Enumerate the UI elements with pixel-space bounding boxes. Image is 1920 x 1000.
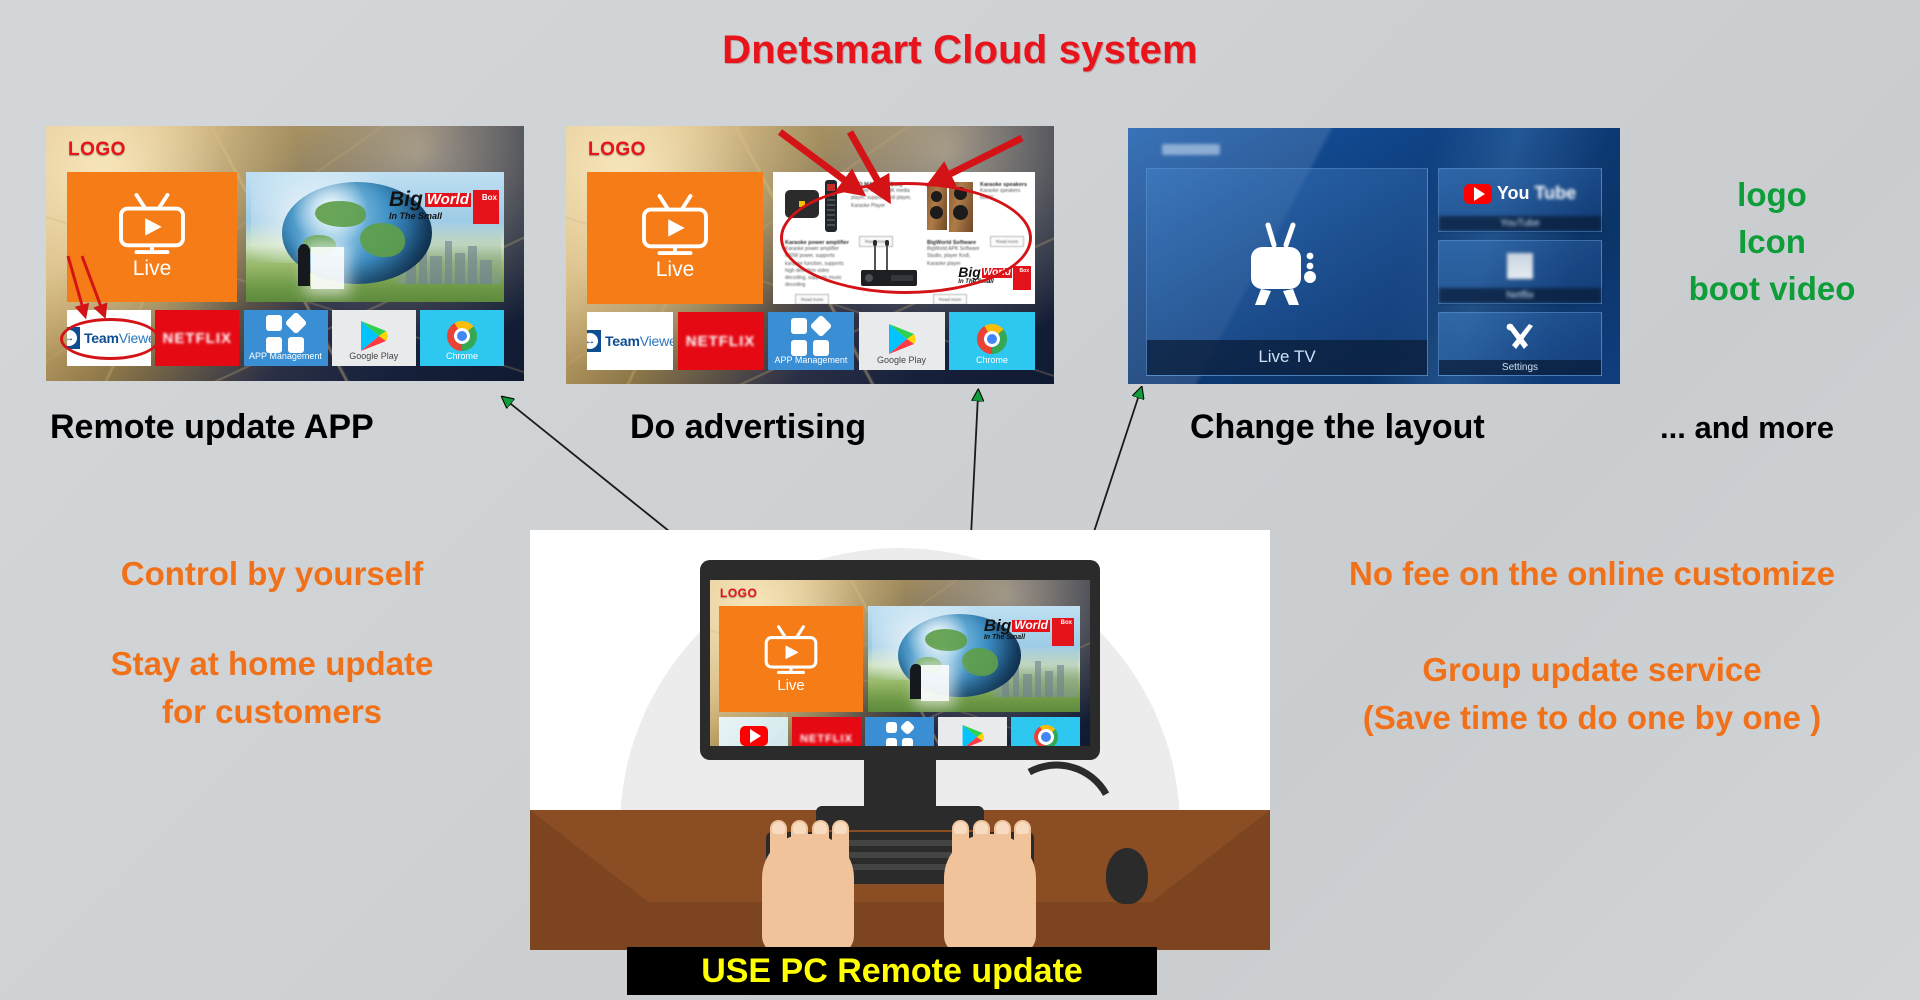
tv-play-icon: [113, 193, 191, 255]
bigworld-logo: Big World In The Small Box: [984, 618, 1074, 646]
youtube-tile-label: YouTube: [1439, 216, 1601, 231]
banner-person-head: [299, 244, 310, 253]
app-management-icon: [886, 722, 914, 746]
live-tile[interactable]: Live: [67, 172, 237, 302]
bigworld-big: Big: [958, 266, 981, 279]
app-tile-label: Google Play: [859, 355, 945, 365]
read-more-button[interactable]: Read more: [795, 294, 829, 304]
mouse[interactable]: [1106, 848, 1148, 904]
panel-change-layout: Live TV You Tube YouTube Netflix: [1128, 128, 1620, 384]
settings-tile[interactable]: Settings: [1438, 312, 1602, 376]
pc-banner-text: USE PC Remote update: [701, 952, 1083, 991]
app-tile-netflix[interactable]: NETFLIX: [155, 310, 239, 366]
green-note-line-1: logo: [1642, 172, 1902, 219]
app-tile-netflix[interactable]: NETFLIX: [678, 312, 764, 370]
panel3-logo-placeholder: [1162, 144, 1220, 155]
teamviewer-icon: ↔ TeamViewer: [67, 327, 151, 349]
ad-item-4-cta[interactable]: Read more: [933, 288, 967, 304]
caption-change-layout: Change the layout: [1190, 408, 1485, 447]
ad-speaker-right-image: [949, 182, 973, 232]
bigworld-redbox: Box: [1013, 266, 1031, 290]
live-tv-tile-label: Live TV: [1147, 340, 1427, 375]
orange-note-right: No fee on the online customize Group upd…: [1272, 550, 1912, 742]
app-management-icon: [266, 315, 306, 355]
chrome-icon: [977, 324, 1007, 354]
ad-product-box-image: [785, 190, 819, 218]
banner-person: [910, 667, 921, 699]
app-tile-label: APP Management: [244, 351, 328, 361]
app-tile-app-management[interactable]: APP Management: [768, 312, 854, 370]
app-tile-google-play[interactable]: Google Play: [859, 312, 945, 370]
ad-item-3: Karaoke power amplifier Karaoke power am…: [785, 240, 851, 290]
bigworld-world: World: [982, 268, 1012, 278]
bigworld-redbox: Box: [1052, 618, 1074, 646]
youtube-icon: [740, 726, 768, 746]
banner-person-head: [911, 664, 920, 671]
netflix-icon: NETFLIX: [800, 733, 853, 745]
live-tile-label: Live: [656, 258, 695, 282]
panel-remote-update: LOGO Live: [46, 126, 524, 381]
tools-icon: [1503, 323, 1537, 353]
tv-logo-text: LOGO: [720, 586, 757, 600]
app-tiles-row: ↔ TeamViewer NETFLIX APP Management: [67, 310, 504, 366]
caption-remote-update: Remote update APP: [50, 408, 374, 447]
settings-tile-label: Settings: [1439, 360, 1601, 375]
green-note-line-2: Icon: [1642, 219, 1902, 266]
netflix-tile[interactable]: Netflix: [1438, 240, 1602, 304]
ad-item-body: Android TV Box, 4K media player, support…: [851, 188, 925, 210]
bigworld-box-label: Box: [482, 193, 497, 202]
app-management-icon: [791, 318, 831, 358]
netflix-icon: NETFLIX: [686, 333, 756, 350]
app-tile-netflix[interactable]: NETFLIX: [792, 717, 861, 746]
chrome-icon: [1034, 725, 1058, 747]
live-tile[interactable]: Live: [719, 606, 863, 712]
pc-remote-update-banner: USE PC Remote update: [627, 947, 1157, 995]
app-tiles-row: ↔ TeamViewer NETFLIX APP Management: [587, 312, 1035, 370]
app-tile-teamviewer[interactable]: ↔ TeamViewer: [67, 310, 151, 366]
infographic-canvas: Dnetsmart Cloud system LOGO Live: [0, 0, 1920, 1000]
live-tile[interactable]: Live: [587, 172, 763, 304]
monitor-neck: [864, 758, 936, 810]
tv-logo-text: LOGO: [588, 139, 646, 161]
promo-banner[interactable]: Big World In The Small Box: [246, 172, 504, 302]
bigworld-box-label: Box: [1061, 620, 1072, 626]
bigworld-logo: Big World In The Small Box: [389, 190, 499, 224]
bigworld-big: Big: [984, 618, 1011, 634]
ad-item-body: Karaoke speakers 600W: [980, 188, 1032, 203]
bigworld-tagline: In The Small: [984, 634, 1050, 641]
orange-note-left: Control by yourself Stay at home update …: [62, 550, 482, 736]
app-tile-label: Chrome: [949, 355, 1035, 365]
monitor-screen: LOGO Live: [710, 580, 1090, 746]
live-tv-tile[interactable]: Live TV: [1146, 168, 1428, 376]
green-note-line-3: boot video: [1642, 266, 1902, 313]
orange-left-line-1: Control by yourself: [62, 550, 482, 598]
ad-remote-image: [825, 180, 837, 232]
live-tile-label: Live: [133, 257, 172, 281]
read-more-button[interactable]: Read more: [933, 294, 967, 304]
netflix-icon: [1507, 253, 1533, 279]
ad-microphones-image: [867, 240, 905, 272]
youtube-tile[interactable]: You Tube YouTube: [1438, 168, 1602, 232]
app-tile-google-play[interactable]: Google Play: [332, 310, 416, 366]
ad-item-3-cta[interactable]: Read more: [795, 288, 829, 304]
tv-logo-text: LOGO: [68, 139, 126, 161]
app-tile-chrome[interactable]: Chrome: [1011, 717, 1080, 746]
promo-banner[interactable]: Big World In The Small Box: [868, 606, 1080, 712]
google-play-icon: [961, 724, 985, 747]
ad-speaker-left-image: [927, 186, 947, 230]
ad-item-body: Karaoke power amplifier 600W power, supp…: [785, 246, 851, 290]
orange-right-line-2: Group update service: [1272, 646, 1912, 694]
app-tile-chrome[interactable]: Chrome: [949, 312, 1035, 370]
google-play-icon: [887, 323, 917, 355]
chrome-icon: [447, 321, 477, 351]
app-tile-app-management[interactable]: APP Management: [865, 717, 934, 746]
teamviewer-icon: ↔ TeamViewer: [587, 330, 673, 352]
bigworld-redbox: Box: [473, 190, 499, 224]
app-tile-label: Chrome: [420, 351, 504, 361]
orange-right-line-1: No fee on the online customize: [1272, 550, 1912, 598]
app-tile-youtube[interactable]: YouTube: [719, 717, 788, 746]
left-hand: [762, 834, 854, 950]
caption-and-more: ... and more: [1660, 410, 1834, 446]
bigworld-box-label: Box: [1020, 268, 1029, 274]
bigworld-world: World: [425, 193, 471, 207]
bigworld-logo: Big World In The Small Box: [958, 266, 1031, 290]
banner-door: [311, 247, 345, 289]
caption-advertising: Do advertising: [630, 408, 866, 447]
netflix-tile-label: Netflix: [1439, 288, 1601, 303]
app-tile-label: APP Management: [768, 355, 854, 365]
bigworld-tagline: In The Small: [389, 211, 471, 221]
ad-item-1: HLQ MAX (Big Box) Android TV Box, 4K med…: [851, 182, 925, 210]
right-hand: [944, 834, 1036, 950]
orange-right-line-3: (Save time to do one by one ): [1272, 694, 1912, 742]
tv-play-icon: [760, 625, 822, 675]
customization-note: logo Icon boot video: [1642, 172, 1902, 313]
bigworld-big: Big: [389, 190, 423, 210]
retro-tv-icon: [1241, 219, 1333, 311]
banner-person: [298, 247, 311, 286]
bigworld-world: World: [1012, 620, 1050, 632]
banner-door: [921, 665, 949, 701]
computer-illustration: LOGO Live: [530, 530, 1270, 950]
app-tile-chrome[interactable]: Chrome: [420, 310, 504, 366]
app-tiles-row: YouTube NETFLIX APP Management: [719, 717, 1080, 746]
ad-item-2-cta[interactable]: Read more: [990, 230, 1024, 248]
netflix-icon: NETFLIX: [163, 330, 233, 347]
ad-item-2: Karaoke speakers Karaoke speakers 600W: [980, 182, 1032, 203]
ad-amplifier-image: [861, 270, 917, 286]
live-tile-label: Live: [777, 677, 805, 694]
orange-left-line-3: for customers: [62, 688, 482, 736]
app-tile-app-management[interactable]: APP Management: [244, 310, 328, 366]
read-more-button[interactable]: Read more: [990, 236, 1024, 247]
app-tile-label: Google Play: [332, 351, 416, 361]
orange-left-line-2: Stay at home update: [62, 640, 482, 688]
youtube-icon: You Tube: [1464, 183, 1576, 204]
monitor: LOGO Live: [700, 560, 1100, 760]
bigworld-tagline: In The Small: [958, 279, 1012, 285]
app-tile-teamviewer[interactable]: ↔ TeamViewer: [587, 312, 673, 370]
page-title: Dnetsmart Cloud system: [0, 28, 1920, 73]
tv-play-icon: [636, 194, 714, 256]
app-tile-google-play[interactable]: Google Play: [938, 717, 1007, 746]
google-play-icon: [359, 320, 389, 352]
advertising-page[interactable]: HLQ MAX (Big Box) Android TV Box, 4K med…: [773, 172, 1035, 304]
panel-advertising: LOGO Live HLQ MAX (Big Box: [566, 126, 1054, 384]
